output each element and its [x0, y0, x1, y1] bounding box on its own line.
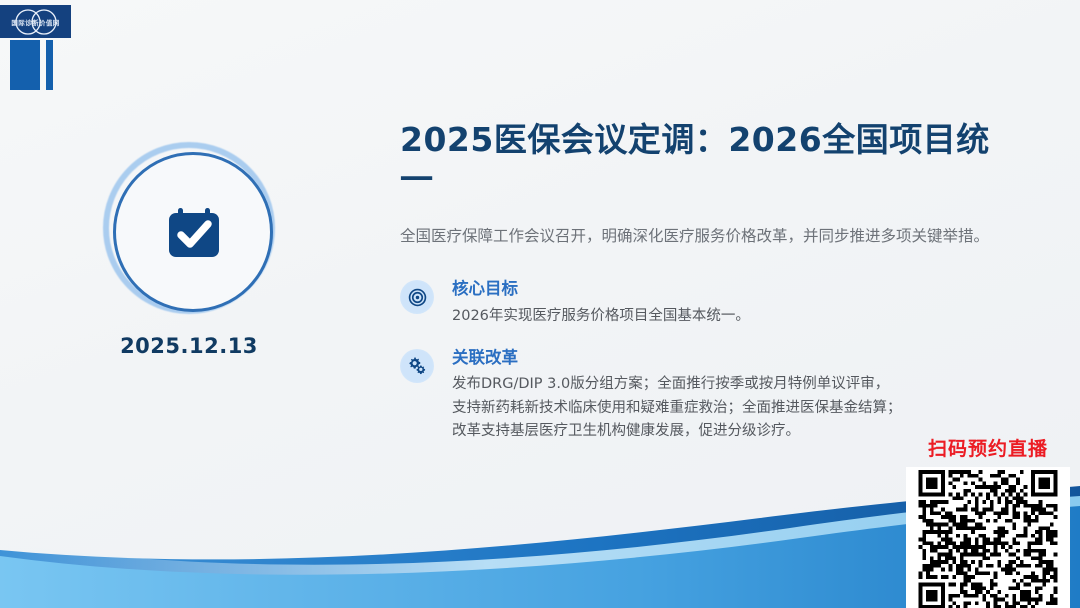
decor-bar-wide — [10, 40, 40, 90]
brand-logo: 国际诊断价值网 — [0, 5, 71, 38]
section-line: 支持新药耗新技术临床使用和疑难重症救治；全面推进医保基金结算； — [452, 397, 1020, 420]
lede-paragraph: 全国医疗保障工作会议召开，明确深化医疗服务价格改革，并同步推进多项关键举措。 — [400, 223, 1020, 250]
section-title: 关联改革 — [452, 348, 1020, 368]
qr-block: 扫码预约直播 — [900, 434, 1076, 608]
section-core-goal-body: 核心目标 2026年实现医疗服务价格项目全国基本统一。 — [452, 278, 1020, 328]
date-card: 2025.12.13 — [103, 142, 275, 358]
calendar-check-icon — [163, 202, 225, 264]
section-line: 2026年实现医疗服务价格项目全国基本统一。 — [452, 305, 1020, 328]
section-title: 核心目标 — [452, 279, 1020, 299]
section-related-reform: 关联改革 发布DRG/DIP 3.0版分组方案；全面推行按季或按月特例单议评审，… — [400, 347, 1020, 444]
poster-canvas: 国际诊断价值网 2025.12.13 2025医保会议定调：2026全国项目统一… — [0, 0, 1080, 608]
section-core-goal: 核心目标 2026年实现医疗服务价格项目全国基本统一。 — [400, 278, 1020, 328]
qr-code-image[interactable] — [906, 467, 1070, 608]
decor-bar-thin — [46, 40, 53, 90]
section-related-reform-body: 关联改革 发布DRG/DIP 3.0版分组方案；全面推行按季或按月特例单议评审，… — [452, 347, 1020, 444]
section-line: 发布DRG/DIP 3.0版分组方案；全面推行按季或按月特例单议评审， — [452, 373, 1020, 396]
target-icon — [400, 280, 434, 314]
content-column: 2025医保会议定调：2026全国项目统一 全国医疗保障工作会议召开，明确深化医… — [400, 120, 1020, 462]
date-ring — [103, 142, 275, 314]
date-text: 2025.12.13 — [103, 334, 275, 358]
brand-logo-text: 国际诊断价值网 — [0, 17, 71, 27]
gears-icon — [400, 349, 434, 383]
headline: 2025医保会议定调：2026全国项目统一 — [400, 120, 1020, 199]
qr-caption: 扫码预约直播 — [900, 434, 1076, 461]
